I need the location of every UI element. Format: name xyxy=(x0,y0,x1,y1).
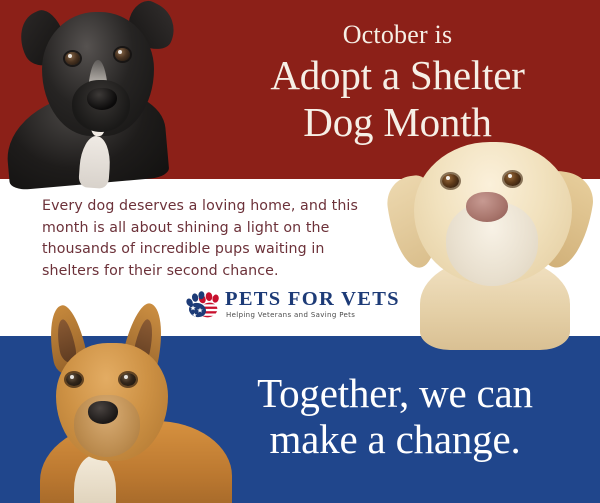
black-dog-right-eye xyxy=(115,48,130,61)
black-dog-photo xyxy=(0,0,206,181)
logo-wordmark: PETS FOR VETS xyxy=(225,289,400,310)
headline-block: October is Adopt a Shelter Dog Month xyxy=(205,20,590,144)
golden-dog-nose xyxy=(466,192,508,222)
black-dog-nose xyxy=(87,88,117,110)
pets-for-vets-logo[interactable]: PETS FOR VETS Helping Veterans and Savin… xyxy=(186,289,400,320)
tan-dog-left-eye xyxy=(66,373,82,386)
golden-dog-right-eye xyxy=(504,172,521,186)
headline-kicker: October is xyxy=(205,20,590,50)
closing-line-1: Together, we can xyxy=(200,370,590,416)
poster-canvas: October is Adopt a Shelter Dog Month Eve… xyxy=(0,0,600,503)
logo-text-wrapper: PETS FOR VETS Helping Veterans and Savin… xyxy=(225,289,400,320)
closing-block: Together, we can make a change. xyxy=(200,370,590,462)
golden-dog-left-eye xyxy=(442,174,459,188)
headline-title-line-2: Dog Month xyxy=(205,100,590,144)
logo-tagline: Helping Veterans and Saving Pets xyxy=(226,311,400,320)
closing-line-2: make a change. xyxy=(200,416,590,462)
body-paragraph: Every dog deserves a loving home, and th… xyxy=(42,196,372,282)
tan-dog-nose xyxy=(88,401,118,424)
black-dog-left-eye xyxy=(65,52,80,65)
headline-title-line-1: Adopt a Shelter xyxy=(205,53,590,97)
patriotic-paw-print-icon xyxy=(186,290,220,320)
golden-retriever-photo xyxy=(392,138,600,338)
tan-dog-right-eye xyxy=(120,373,136,386)
